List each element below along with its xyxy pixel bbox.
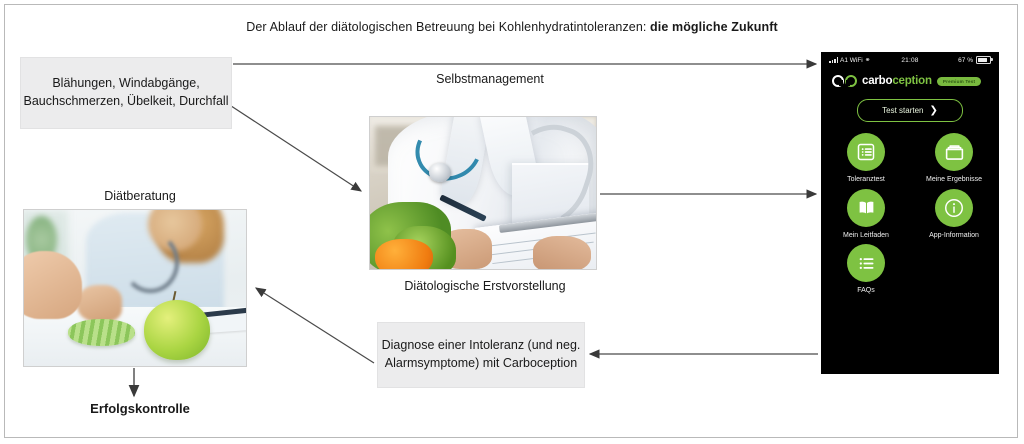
phone-statusbar: A1 WiFi ⚭ 21:08 67 % bbox=[822, 53, 998, 67]
test-starten-label: Test starten bbox=[882, 106, 923, 115]
test-starten-button[interactable]: Test starten ❯ bbox=[857, 99, 963, 122]
symptoms-box-text: Blähungen, Windabgänge, Bauchschmerzen, … bbox=[21, 75, 231, 111]
phone-mockup[interactable]: A1 WiFi ⚭ 21:08 67 % carboception Premiu… bbox=[821, 52, 999, 374]
tile-label: FAQs bbox=[857, 287, 875, 295]
label-selbstmanagement: Selbstmanagement bbox=[330, 72, 650, 86]
brand-name-green: ception bbox=[892, 75, 932, 87]
list-icon bbox=[847, 133, 885, 171]
book-icon bbox=[847, 189, 885, 227]
tile-meine-ergebnisse[interactable]: Meine Ergebnisse bbox=[917, 133, 991, 184]
wifi-icon: ⚭ bbox=[865, 57, 871, 64]
tile-row: FAQs bbox=[822, 244, 998, 295]
tile-label: Meine Ergebnisse bbox=[926, 176, 982, 184]
carrier-label: A1 WiFi bbox=[840, 57, 863, 64]
tile-mein-leitfaden[interactable]: Mein Leitfaden bbox=[829, 189, 903, 240]
tile-row: Toleranztest Meine Ergebnisse bbox=[822, 133, 998, 184]
app-tile-grid: Toleranztest Meine Ergebnisse bbox=[822, 133, 998, 300]
arrow-symptoms-to-doctor bbox=[222, 100, 361, 191]
app-brand-name: carboception bbox=[862, 75, 932, 87]
tile-app-information[interactable]: App-Information bbox=[917, 189, 991, 240]
clock-label: 21:08 bbox=[901, 57, 918, 64]
tile-label: App-Information bbox=[929, 232, 979, 240]
doctor-photo bbox=[369, 116, 597, 270]
tile-toleranztest[interactable]: Toleranztest bbox=[829, 133, 903, 184]
diagram-canvas: Der Ablauf der diätologischen Betreuung … bbox=[0, 0, 1024, 444]
consult-photo bbox=[23, 209, 247, 367]
folder-icon bbox=[935, 133, 973, 171]
tile-faqs[interactable]: FAQs bbox=[829, 244, 903, 295]
app-brand-row: carboception Premium Test bbox=[822, 70, 998, 92]
diagnose-box: Diagnose einer Intoleranz (und neg. Alar… bbox=[377, 322, 585, 388]
brand-name-white: carbo bbox=[862, 75, 892, 87]
label-erstvorstellung: Diätologische Erstvorstellung bbox=[355, 279, 615, 293]
list-icon bbox=[847, 244, 885, 282]
info-icon bbox=[935, 189, 973, 227]
symptoms-box: Blähungen, Windabgänge, Bauchschmerzen, … bbox=[20, 57, 232, 129]
diagnose-box-text: Diagnose einer Intoleranz (und neg. Alar… bbox=[378, 337, 584, 373]
tile-label: Toleranztest bbox=[847, 176, 885, 184]
brand-badge: Premium Test bbox=[937, 77, 981, 86]
tile-row: Mein Leitfaden App-Information bbox=[822, 189, 998, 240]
arrow-diagnose-to-consult bbox=[256, 288, 374, 363]
signal-bars-icon bbox=[829, 57, 838, 63]
battery-icon bbox=[976, 56, 991, 65]
carboception-logo-icon bbox=[832, 75, 857, 87]
tile-label: Mein Leitfaden bbox=[843, 232, 889, 240]
label-diaetberatung: Diätberatung bbox=[55, 189, 225, 203]
battery-percent-label: 67 % bbox=[958, 57, 973, 64]
chevron-right-icon: ❯ bbox=[929, 106, 937, 116]
label-erfolgskontrolle: Erfolgskontrolle bbox=[45, 401, 235, 416]
